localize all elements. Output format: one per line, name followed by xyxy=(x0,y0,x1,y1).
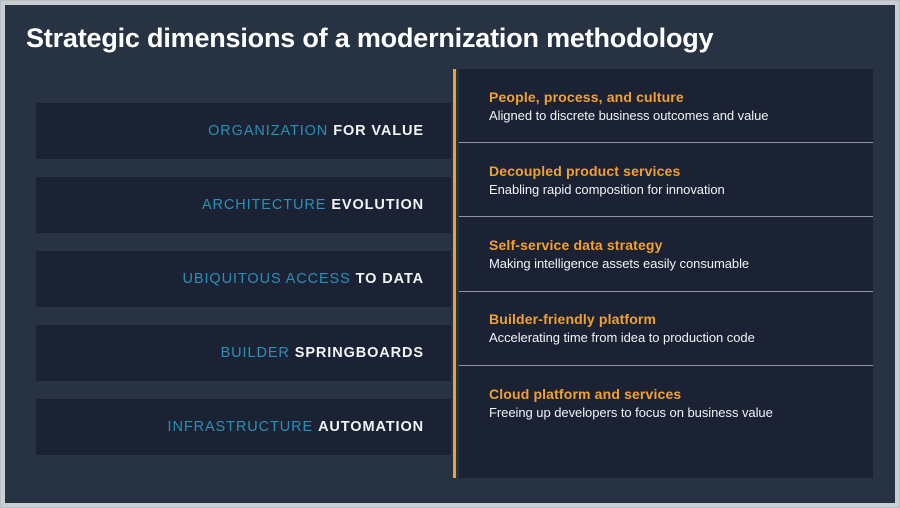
dimension-detail-heading: Self-service data strategy xyxy=(489,237,859,253)
dimension-label-row[interactable]: ARCHITECTUREEVOLUTION xyxy=(36,177,451,233)
slide-frame: Strategic dimensions of a modernization … xyxy=(0,0,900,508)
dimension-detail-subtext: Enabling rapid composition for innovatio… xyxy=(489,182,859,197)
dimension-label-plain: FOR VALUE xyxy=(333,123,424,139)
dimension-label-plain: TO DATA xyxy=(356,271,424,287)
vertical-accent-divider xyxy=(453,69,456,478)
dimension-label: BUILDERSPRINGBOARDS xyxy=(221,345,424,361)
dimension-detail-row[interactable]: Cloud platform and services Freeing up d… xyxy=(459,366,873,440)
dimension-detail-subtext: Making intelligence assets easily consum… xyxy=(489,256,859,271)
dimension-label-accent: INFRASTRUCTURE xyxy=(168,419,314,435)
dimension-detail-row[interactable]: Self-service data strategy Making intell… xyxy=(459,217,873,291)
dimension-label-plain: AUTOMATION xyxy=(318,419,424,435)
dimension-detail-panel: People, process, and culture Aligned to … xyxy=(459,69,873,478)
dimension-label-row[interactable]: ORGANIZATIONFOR VALUE xyxy=(36,103,451,159)
dimension-label-accent: BUILDER xyxy=(221,345,290,361)
dimension-detail-heading: People, process, and culture xyxy=(489,89,859,105)
dimension-label-plain: EVOLUTION xyxy=(331,197,424,213)
dimension-detail-subtext: Accelerating time from idea to productio… xyxy=(489,330,859,345)
dimension-detail-row[interactable]: Decoupled product services Enabling rapi… xyxy=(459,143,873,217)
page-title: Strategic dimensions of a modernization … xyxy=(26,23,713,54)
dimension-label-accent: UBIQUITOUS ACCESS xyxy=(183,271,351,287)
dimension-label-accent: ARCHITECTURE xyxy=(202,197,326,213)
dimension-detail-row[interactable]: People, process, and culture Aligned to … xyxy=(459,69,873,143)
dimension-detail-subtext: Freeing up developers to focus on busine… xyxy=(489,405,859,420)
dimension-label: UBIQUITOUS ACCESSTO DATA xyxy=(183,271,424,287)
slide-canvas: Strategic dimensions of a modernization … xyxy=(5,5,895,503)
dimension-label-column: ORGANIZATIONFOR VALUE ARCHITECTUREEVOLUT… xyxy=(36,103,451,455)
dimension-label-row[interactable]: BUILDERSPRINGBOARDS xyxy=(36,325,451,381)
dimension-label-row[interactable]: INFRASTRUCTUREAUTOMATION xyxy=(36,399,451,455)
dimension-detail-heading: Builder-friendly platform xyxy=(489,311,859,327)
dimension-label-plain: SPRINGBOARDS xyxy=(295,345,424,361)
dimension-label: INFRASTRUCTUREAUTOMATION xyxy=(168,419,424,435)
dimension-label: ORGANIZATIONFOR VALUE xyxy=(208,123,424,139)
dimension-detail-row[interactable]: Builder-friendly platform Accelerating t… xyxy=(459,292,873,366)
dimension-detail-heading: Cloud platform and services xyxy=(489,386,859,402)
dimension-label-row[interactable]: UBIQUITOUS ACCESSTO DATA xyxy=(36,251,451,307)
dimension-detail-heading: Decoupled product services xyxy=(489,163,859,179)
dimension-detail-subtext: Aligned to discrete business outcomes an… xyxy=(489,108,859,123)
dimension-label-accent: ORGANIZATION xyxy=(208,123,328,139)
dimension-label: ARCHITECTUREEVOLUTION xyxy=(202,197,424,213)
